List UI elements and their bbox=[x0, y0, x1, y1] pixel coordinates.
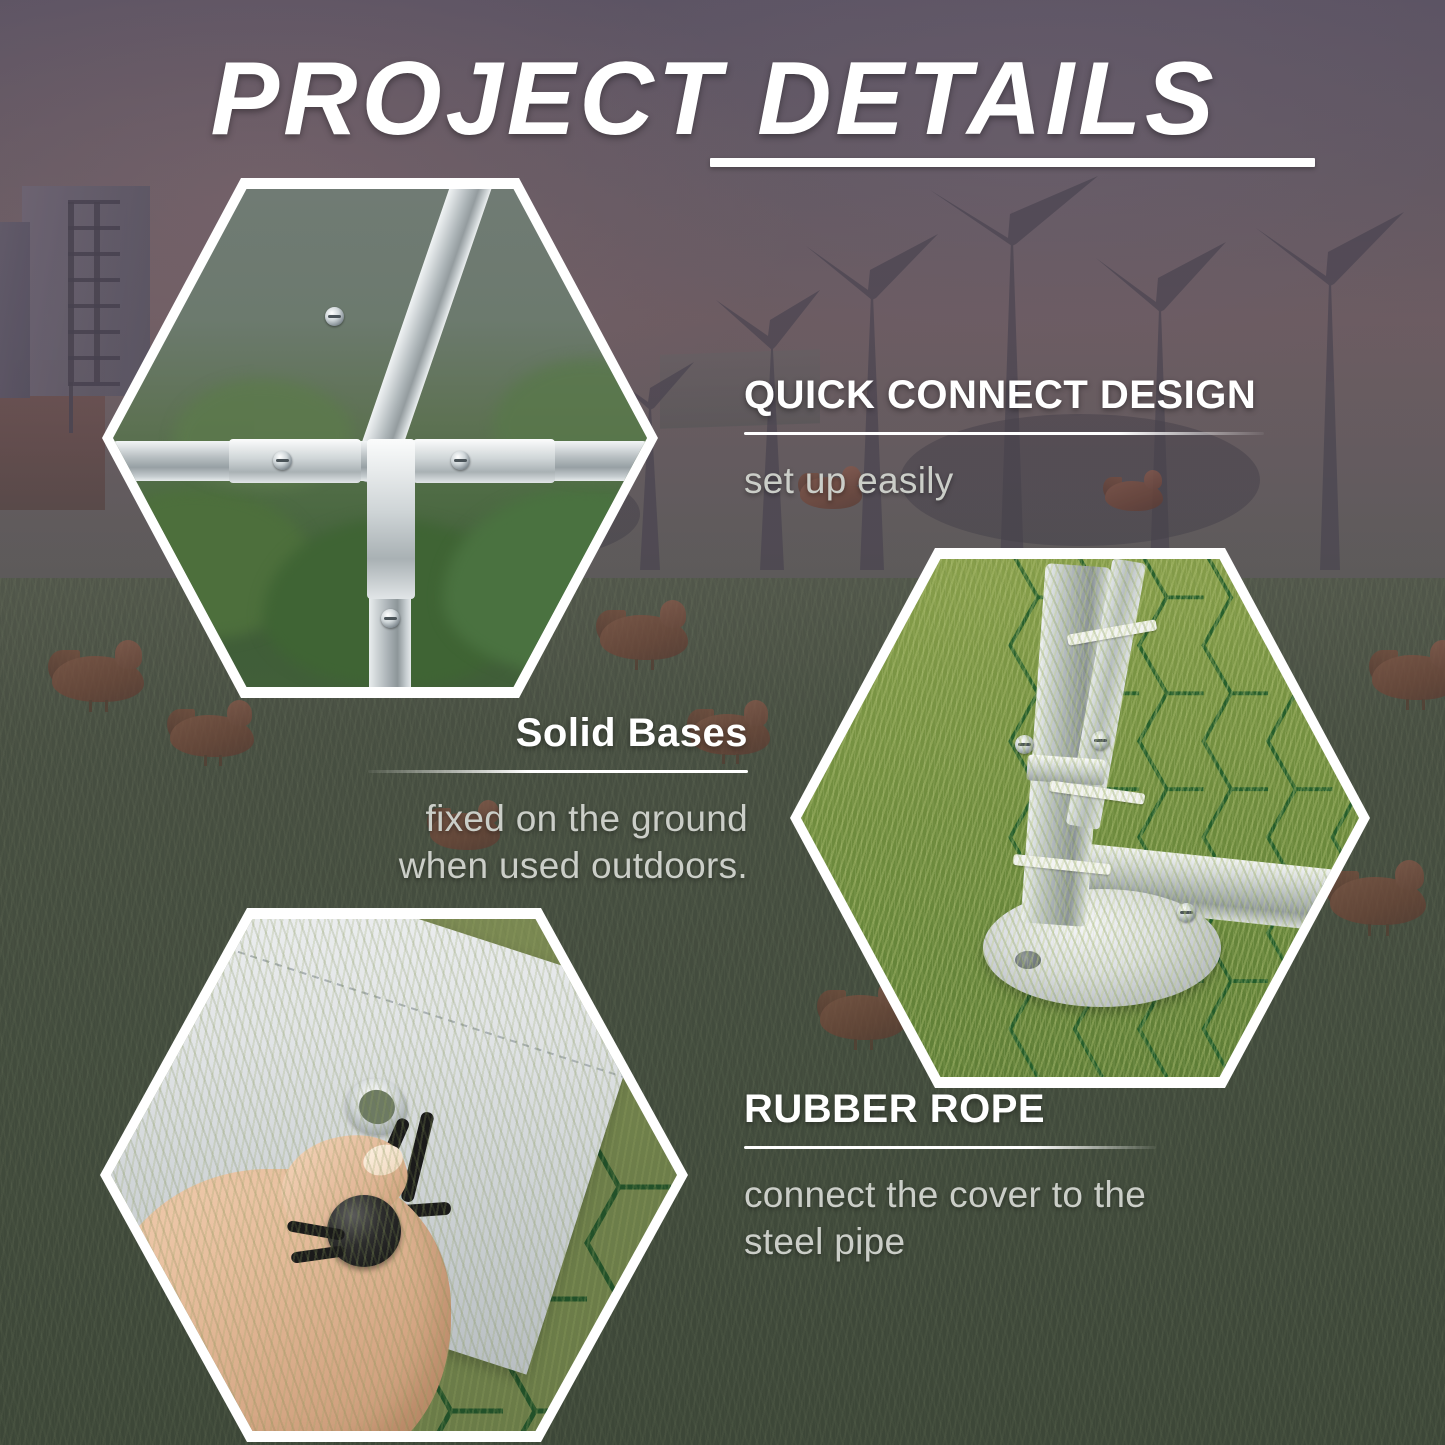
screw-icon bbox=[325, 307, 344, 326]
pipe-sleeve-vertical bbox=[367, 439, 415, 599]
feature-description-line-2: steel pipe bbox=[744, 1221, 905, 1262]
feature-heading-solid-bases: Solid Bases bbox=[300, 712, 748, 754]
zip-tie-icon bbox=[1067, 619, 1158, 645]
screw-icon bbox=[1015, 735, 1034, 754]
bungee-cord bbox=[355, 1202, 452, 1222]
feature-rule-rubber-rope bbox=[744, 1146, 1156, 1149]
screw-icon bbox=[1091, 731, 1110, 750]
feature-heading-quick-connect: QUICK CONNECT DESIGN bbox=[744, 374, 1334, 416]
screw-icon bbox=[451, 451, 470, 470]
feature-description-rubber-rope: connect the cover to the steel pipe bbox=[744, 1171, 1304, 1266]
feature-rule-quick-connect bbox=[744, 432, 1264, 435]
page-title-underline bbox=[710, 158, 1315, 167]
feature-heading-rubber-rope: RUBBER ROPE bbox=[744, 1088, 1304, 1130]
tarp-stitch-seam bbox=[176, 931, 624, 1078]
thumb bbox=[269, 1119, 417, 1240]
feature-block-quick-connect: QUICK CONNECT DESIGN set up easily bbox=[744, 374, 1334, 504]
rubber-ball-bungee bbox=[327, 1195, 401, 1267]
pipe-sleeve-right bbox=[413, 439, 555, 483]
grommet-eyelet bbox=[339, 1071, 415, 1143]
feature-description-line-2: when used outdoors. bbox=[399, 845, 748, 886]
infographic-canvas: PROJECT DETAILS bbox=[0, 0, 1445, 1445]
feature-description-quick-connect: set up easily bbox=[744, 457, 1334, 504]
secondary-pole bbox=[1066, 559, 1146, 830]
screw-icon bbox=[273, 451, 292, 470]
fingernail bbox=[360, 1140, 407, 1180]
feature-block-solid-bases: Solid Bases fixed on the ground when use… bbox=[300, 712, 748, 890]
bungee-cord-tail bbox=[286, 1220, 345, 1241]
bungee-cord bbox=[360, 1117, 411, 1210]
feature-description-solid-bases: fixed on the ground when used outdoors. bbox=[300, 795, 748, 890]
screw-icon bbox=[1177, 903, 1196, 922]
base-plate bbox=[983, 889, 1221, 1007]
zip-tie-icon bbox=[1049, 780, 1146, 804]
feature-block-rubber-rope: RUBBER ROPE connect the cover to the ste… bbox=[744, 1088, 1304, 1266]
pipe-sleeve-left bbox=[229, 439, 361, 483]
vertical-pole bbox=[1021, 563, 1112, 927]
bungee-cord-tail bbox=[290, 1245, 345, 1263]
feature-description-line-1: fixed on the ground bbox=[426, 798, 749, 839]
pole-collar bbox=[1026, 754, 1106, 785]
zip-tie-icon bbox=[1013, 854, 1112, 875]
screw-icon bbox=[381, 609, 400, 628]
feature-rule-solid-bases bbox=[368, 770, 748, 773]
page-title: PROJECT DETAILS bbox=[211, 40, 1300, 159]
bungee-cord bbox=[400, 1111, 435, 1203]
feature-description-line-1: connect the cover to the bbox=[744, 1174, 1146, 1215]
